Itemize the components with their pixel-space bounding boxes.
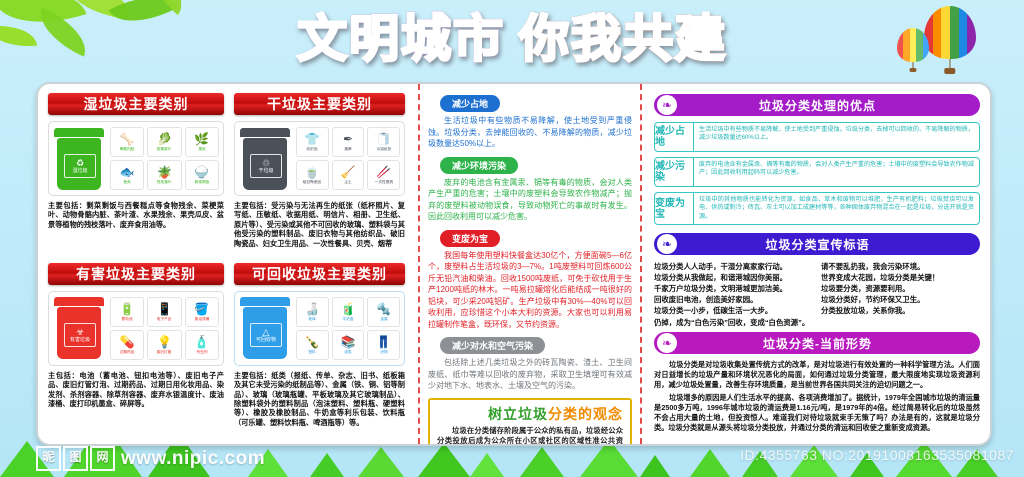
category-description: 主要包括：纸类（报纸、传单、杂志、旧书、纸板箱及其它未受污染的纸制品等）、金属（… xyxy=(234,371,405,427)
advantage-key-text: 变废为宝 xyxy=(655,198,693,220)
item-caption: 残枝落叶 xyxy=(157,179,172,184)
concept-title: 树立垃圾分类的观念 xyxy=(437,406,623,422)
category-card-harmful-waste: 有害垃圾主要类别 ☣有害垃圾 🔋蓄电池 📱电子产品 🪣废油漆桶 💊过期药品 xyxy=(48,263,229,438)
waste-item-icon: 🧴杀虫剂 xyxy=(185,330,219,360)
poster-title: 文明城市你我共建 xyxy=(0,6,1024,78)
waste-item-icon: 🦴骨骼内脏 xyxy=(110,127,144,157)
list-item: 垃圾分类好，节约环保又卫生。 xyxy=(821,294,980,305)
item-glyph: 🌿 xyxy=(194,133,209,146)
bin-label: 湿垃圾 xyxy=(72,168,87,174)
advantage-key-text: 减少占地 xyxy=(655,126,693,148)
title-part-2: 你我共建 xyxy=(519,6,727,72)
item-glyph: 👖 xyxy=(376,336,391,349)
benefit-tag: 减少环境污染 xyxy=(440,157,518,174)
item-caption: 鱼壳 xyxy=(123,179,130,184)
benefit-text: 我国每年使用塑料快餐盒达30亿个，方便面碗5—6亿个，废塑料占生活垃圾的3—7%… xyxy=(428,250,632,331)
list-item: 世界变成大花园，垃圾分类是关键！ xyxy=(821,272,980,283)
waste-item-icon: 💡废旧灯管 xyxy=(147,330,181,360)
benefit-block: 减少占地 生活垃圾中有些物质不易降解，使土地受到严重侵蚀。垃圾分类，去掉能回收的… xyxy=(428,94,632,150)
paragraph: 垃圾增多的原因是人们生活水平的提高、各项消费增加了。据统计，1979年全国城市垃… xyxy=(654,393,980,433)
item-glyph: 🍚 xyxy=(194,166,209,179)
category-description: 主包括：电池（蓄电池、钮扣电池等）、废旧电子产品、废旧灯管灯泡、过期药品、过期日… xyxy=(48,371,224,409)
item-caption: 废旧灯管 xyxy=(157,349,172,354)
benefit-tag: 变废为宝 xyxy=(440,230,500,247)
leaf-badge-icon: ❧ xyxy=(657,234,677,254)
category-description: 主要包括：剩菜剩饭与西餐糕点等食物残余、菜梗菜叶、动物骨骼内脏、茶叶渣、水果残余… xyxy=(48,201,224,229)
item-caption: 废油漆桶 xyxy=(194,316,209,321)
category-card-dry-waste: 干垃圾主要类别 ♲干垃圾 👕纺织品 ✒烟蒂 🧻污染纸张 🍵破旧陶瓷品 xyxy=(229,93,410,259)
waste-item-icon: 👖织物 xyxy=(367,330,400,360)
advantage-row: 减少污染 废弃的电池含有金属汞、镉等有毒的物质，会对人类产生严重的危害；土壤中的… xyxy=(654,157,980,187)
item-caption: 塑料 xyxy=(309,349,316,354)
item-glyph: 🧃 xyxy=(341,303,356,316)
benefit-text: 包括除上述几类垃圾之外的砖瓦陶瓷、渣土、卫生间废纸、纸巾等难以回收的废弃物，采取… xyxy=(428,357,632,392)
waste-item-icon: 🍾塑料 xyxy=(296,330,329,360)
concept-box: 树立垃圾分类的观念 垃圾在分类储存阶段属于公众的私有品，垃圾经公众分类投放后成为… xyxy=(428,398,632,447)
benefit-block: 变废为宝 我国每年使用塑料快餐盒达30亿个，方便面碗5—6亿个，废塑料占生活垃圾… xyxy=(428,229,632,331)
waste-item-icon: 🧃牛奶盒 xyxy=(332,297,365,327)
category-icon-grid: 👕纺织品 ✒烟蒂 🧻污染纸张 🍵破旧陶瓷品 🧹尘土 🥢一次性餐具 xyxy=(296,127,400,190)
tree-icon xyxy=(418,443,470,477)
item-caption: 污染纸张 xyxy=(376,146,391,151)
category-icon-grid: 🍶玻璃 🧃牛奶盒 🔩金属 🍾塑料 📚纸类 👖织物 xyxy=(296,297,400,360)
item-caption: 骨骼内脏 xyxy=(120,146,135,151)
waste-item-icon: 🧹尘土 xyxy=(332,160,365,190)
category-card-wet-waste: 湿垃圾主要类别 ♻湿垃圾 🦴骨骼内脏 🥬菜梗菜叶 🌿果皮 🐟鱼壳 xyxy=(48,93,229,259)
list-item: 垃圾分类人人动手，干湿分离家家行动。 xyxy=(654,261,813,272)
advantage-key: 变废为宝 xyxy=(655,193,694,224)
slogan-list-right: 请不要乱扔我，我会污染环境。 世界变成大花园，垃圾分类是关键！ 垃圾要分类，资源… xyxy=(821,261,980,316)
list-item: 千家万户垃圾分类，文明港城更加洁美。 xyxy=(654,283,813,294)
category-icon-grid: 🔋蓄电池 📱电子产品 🪣废油漆桶 💊过期药品 💡废旧灯管 🧴杀虫剂 xyxy=(110,297,219,360)
item-glyph: 💊 xyxy=(120,336,135,349)
tree-icon xyxy=(690,449,730,477)
section-header-situation: ❧ 垃圾分类-当前形势 xyxy=(654,332,980,354)
item-caption: 牛奶盒 xyxy=(342,316,353,321)
category-title: 有害垃圾主要类别 xyxy=(48,263,224,285)
waste-item-icon: 👕纺织品 xyxy=(296,127,329,157)
advantage-value: 生活垃圾中有些物质不易降解，使土地受到严重侵蚀。垃圾分类，去掉可以回收的、不易降… xyxy=(694,123,979,151)
watermark-url: www.nipic.com xyxy=(121,448,265,470)
item-caption: 果皮 xyxy=(198,146,205,151)
item-caption: 纸类 xyxy=(344,349,351,354)
advantage-value: 废弃的电池含有金属汞、镉等有毒的物质，会对人类产生严重的危害；土壤中的废塑料会导… xyxy=(694,158,979,186)
wet-waste-bin-icon: ♻湿垃圾 xyxy=(53,128,105,190)
item-glyph: 🦴 xyxy=(120,133,135,146)
item-glyph: 🪴 xyxy=(157,166,172,179)
waste-item-icon: 🍵破旧陶瓷品 xyxy=(296,160,329,190)
bin-illustration-card: ♻湿垃圾 🦴骨骼内脏 🥬菜梗菜叶 🌿果皮 🐟鱼壳 🪴残枝落叶 🍚剩菜剩饭 xyxy=(48,121,224,196)
tree-icon xyxy=(520,447,564,477)
item-caption: 蓄电池 xyxy=(122,316,133,321)
logo-char: 图 xyxy=(63,446,88,471)
waste-item-icon: ✒烟蒂 xyxy=(332,127,365,157)
concept-title-part-b: 分类的观念 xyxy=(548,406,623,422)
item-caption: 玻璃 xyxy=(309,316,316,321)
title-part-1: 文明城市 xyxy=(297,6,505,72)
poster-canvas: 文明城市你我共建 湿垃圾主要类别 ♻湿垃圾 🦴骨骼内脏 xyxy=(0,0,1024,477)
bin-symbol: ♻ xyxy=(76,158,84,168)
waste-item-icon: 🧻污染纸张 xyxy=(367,127,400,157)
waste-item-icon: 🔋蓄电池 xyxy=(110,297,144,327)
list-item: 垃圾分类从我做起，和谐港城因你美丽。 xyxy=(654,272,813,283)
item-caption: 剩菜剩饭 xyxy=(194,179,209,184)
item-glyph: ✒ xyxy=(343,133,353,146)
benefit-text: 生活垃圾中有些物质不易降解，使土地受到严重侵蚀。垃圾分类，去掉能回收的、不易降解… xyxy=(428,115,632,150)
situation-text: 垃圾分类是对垃圾收集处置传统方式的改革，是对垃圾进行有效处置的一种科学管理方法。… xyxy=(654,360,980,433)
slogan-list-left: 垃圾分类人人动手，干湿分离家家行动。 垃圾分类从我做起，和谐港城因你美丽。 千家… xyxy=(654,261,813,316)
list-item: 请不要乱扔我，我会污染环境。 xyxy=(821,261,980,272)
item-glyph: 👕 xyxy=(305,133,320,146)
waste-categories-column: 湿垃圾主要类别 ♻湿垃圾 🦴骨骼内脏 🥬菜梗菜叶 🌿果皮 🐟鱼壳 xyxy=(38,84,420,444)
item-glyph: 🧴 xyxy=(194,336,209,349)
item-glyph: 🧻 xyxy=(376,133,391,146)
item-glyph: 🔩 xyxy=(376,303,391,316)
item-glyph: 🔋 xyxy=(120,303,135,316)
section-header-advantages: ❧ 垃圾分类处理的优点 xyxy=(654,94,980,116)
item-caption: 织物 xyxy=(380,349,387,354)
category-description: 主要包括：受污染与无法再生的纸张（纸杯照片、复写纸、压敏纸、收据用纸、明信片、相… xyxy=(234,201,405,248)
waste-item-icon: 🔩金属 xyxy=(367,297,400,327)
item-caption: 电子产品 xyxy=(157,316,172,321)
dry-waste-bin-icon: ♲干垃圾 xyxy=(239,128,291,190)
category-title: 可回收垃圾主要类别 xyxy=(234,263,405,285)
waste-item-icon: 🌿果皮 xyxy=(185,127,219,157)
harmful-waste-bin-icon: ☣有害垃圾 xyxy=(53,297,105,359)
section-title: 垃圾分类处理的优点 xyxy=(677,97,980,114)
list-item: 垃圾要分类，资源要利用。 xyxy=(821,283,980,294)
bin-symbol: ☣ xyxy=(76,327,84,337)
item-caption: 纺织品 xyxy=(307,146,318,151)
benefits-column: 减少占地 生活垃圾中有些物质不易降解，使土地受到严重侵蚀。垃圾分类，去掉能回收的… xyxy=(420,84,642,444)
benefit-block: 减少环境污染 废弃的电池含有金属汞、镉等有毒的物质，会对人类产生严重的危害；土壤… xyxy=(428,156,632,223)
bin-illustration-card: △可回收物 🍶玻璃 🧃牛奶盒 🔩金属 🍾塑料 📚纸类 👖织物 xyxy=(234,291,405,366)
slogan-columns: 垃圾分类人人动手，干湿分离家家行动。 垃圾分类从我做起，和谐港城因你美丽。 千家… xyxy=(654,261,980,316)
info-column: ❧ 垃圾分类处理的优点 减少占地 生活垃圾中有些物质不易降解，使土地受到严重侵蚀… xyxy=(642,84,990,444)
list-item: 分类投放垃圾，关系你我。 xyxy=(821,305,980,316)
item-glyph: 🍶 xyxy=(305,303,320,316)
item-glyph: 🍵 xyxy=(305,166,320,179)
item-glyph: 🪣 xyxy=(194,303,209,316)
waste-item-icon: 💊过期药品 xyxy=(110,330,144,360)
item-glyph: 🍾 xyxy=(305,336,320,349)
list-item: 回收废旧电池，创造美好家园。 xyxy=(654,294,813,305)
waste-item-icon: 🥢一次性餐具 xyxy=(367,160,400,190)
category-title: 湿垃圾主要类别 xyxy=(48,93,224,115)
tree-icon xyxy=(310,453,344,477)
benefit-tag: 减少对水和空气污染 xyxy=(440,337,545,354)
item-glyph: 📱 xyxy=(157,303,172,316)
logo-char: 昵 xyxy=(36,446,61,471)
bin-symbol: ♲ xyxy=(262,158,270,168)
item-caption: 破旧陶瓷品 xyxy=(303,179,321,184)
waste-item-icon: 📱电子产品 xyxy=(147,297,181,327)
bin-symbol: △ xyxy=(263,327,270,337)
waste-item-icon: 🍶玻璃 xyxy=(296,297,329,327)
list-item: 垃圾分类一小步，低碳生活一大步。 xyxy=(654,305,813,316)
advantage-row: 减少占地 生活垃圾中有些物质不易降解，使土地受到严重侵蚀。垃圾分类，去掉可以回收… xyxy=(654,122,980,152)
advantage-value: 垃圾中的其他物质也能转化为资源，如食品、草木和废物可以堆肥，生产有机肥料；垃圾焚… xyxy=(694,193,979,224)
content-board: 湿垃圾主要类别 ♻湿垃圾 🦴骨骼内脏 🥬菜梗菜叶 🌿果皮 🐟鱼壳 xyxy=(36,82,992,446)
tree-icon xyxy=(470,453,504,477)
logo-char: 网 xyxy=(90,446,115,471)
item-caption: 过期药品 xyxy=(120,349,135,354)
slogan-last: 仍掉，成为“白色污染”回收，变成“白色资源”。 xyxy=(654,318,980,328)
bin-illustration-card: ♲干垃圾 👕纺织品 ✒烟蒂 🧻污染纸张 🍵破旧陶瓷品 🧹尘土 🥢一次性餐具 xyxy=(234,121,405,196)
tree-icon xyxy=(358,447,404,477)
watermark: 昵 图 网 www.nipic.com xyxy=(36,446,265,471)
bin-illustration-card: ☣有害垃圾 🔋蓄电池 📱电子产品 🪣废油漆桶 💊过期药品 💡废旧灯管 🧴杀虫剂 xyxy=(48,291,224,366)
benefit-text: 废弃的电池含有金属汞、镉等有毒的物质，会对人类产生严重的危害；土壤中的废塑料会导… xyxy=(428,177,632,223)
waste-item-icon: 🍚剩菜剩饭 xyxy=(185,160,219,190)
waste-item-icon: 🪣废油漆桶 xyxy=(185,297,219,327)
advantage-key: 减少占地 xyxy=(655,123,694,151)
item-glyph: 💡 xyxy=(157,336,172,349)
benefit-tag: 减少占地 xyxy=(440,95,500,112)
bin-label: 有害垃圾 xyxy=(70,337,90,343)
benefit-block: 减少对水和空气污染 包括除上述几类垃圾之外的砖瓦陶瓷、渣土、卫生间废纸、纸巾等难… xyxy=(428,336,632,392)
item-glyph: 🥢 xyxy=(376,166,391,179)
item-caption: 金属 xyxy=(380,316,387,321)
leaf-badge-icon: ❧ xyxy=(657,333,677,353)
advantage-key-text: 减少污染 xyxy=(655,161,693,183)
item-caption: 杀虫剂 xyxy=(196,349,207,354)
image-id-text: ID:4355763 NO:20191008163535081087 xyxy=(740,447,1014,463)
waste-item-icon: 🪴残枝落叶 xyxy=(147,160,181,190)
category-card-recyclable-waste: 可回收垃圾主要类别 △可回收物 🍶玻璃 🧃牛奶盒 🔩金属 🍾塑料 xyxy=(229,263,410,438)
item-caption: 烟蒂 xyxy=(344,146,351,151)
item-glyph: 📚 xyxy=(341,336,356,349)
waste-item-icon: 📚纸类 xyxy=(332,330,365,360)
recyclable-bin-icon: △可回收物 xyxy=(239,297,291,359)
waste-item-icon: 🐟鱼壳 xyxy=(110,160,144,190)
waste-item-icon: 🥬菜梗菜叶 xyxy=(147,127,181,157)
bin-label: 干垃圾 xyxy=(258,168,273,174)
concept-title-part-a: 树立垃圾 xyxy=(488,406,548,422)
category-title: 干垃圾主要类别 xyxy=(234,93,405,115)
tree-icon xyxy=(640,455,670,477)
item-caption: 尘土 xyxy=(344,179,351,184)
paragraph: 垃圾分类是对垃圾收集处置传统方式的改革，是对垃圾进行有效处置的一种科学管理方法。… xyxy=(654,360,980,390)
category-icon-grid: 🦴骨骼内脏 🥬菜梗菜叶 🌿果皮 🐟鱼壳 🪴残枝落叶 🍚剩菜剩饭 xyxy=(110,127,219,190)
section-title: 垃圾分类宣传标语 xyxy=(677,236,980,253)
item-glyph: 🧹 xyxy=(341,166,356,179)
advantage-key: 减少污染 xyxy=(655,158,694,186)
bin-label: 可回收物 xyxy=(256,337,276,343)
item-glyph: 🐟 xyxy=(120,166,135,179)
item-caption: 菜梗菜叶 xyxy=(157,146,172,151)
advantage-row: 变废为宝 垃圾中的其他物质也能转化为资源，如食品、草木和废物可以堆肥，生产有机肥… xyxy=(654,192,980,225)
leaf-badge-icon: ❧ xyxy=(657,95,677,115)
section-title: 垃圾分类-当前形势 xyxy=(677,335,980,352)
site-logo: 昵 图 网 xyxy=(36,446,115,471)
section-header-slogans: ❧ 垃圾分类宣传标语 xyxy=(654,233,980,255)
concept-text: 垃圾在分类储存阶段属于公众的私有品，垃圾经公众分类投放后成为公众所在小区或社区的… xyxy=(437,426,623,447)
item-glyph: 🥬 xyxy=(157,133,172,146)
item-caption: 一次性餐具 xyxy=(374,179,392,184)
